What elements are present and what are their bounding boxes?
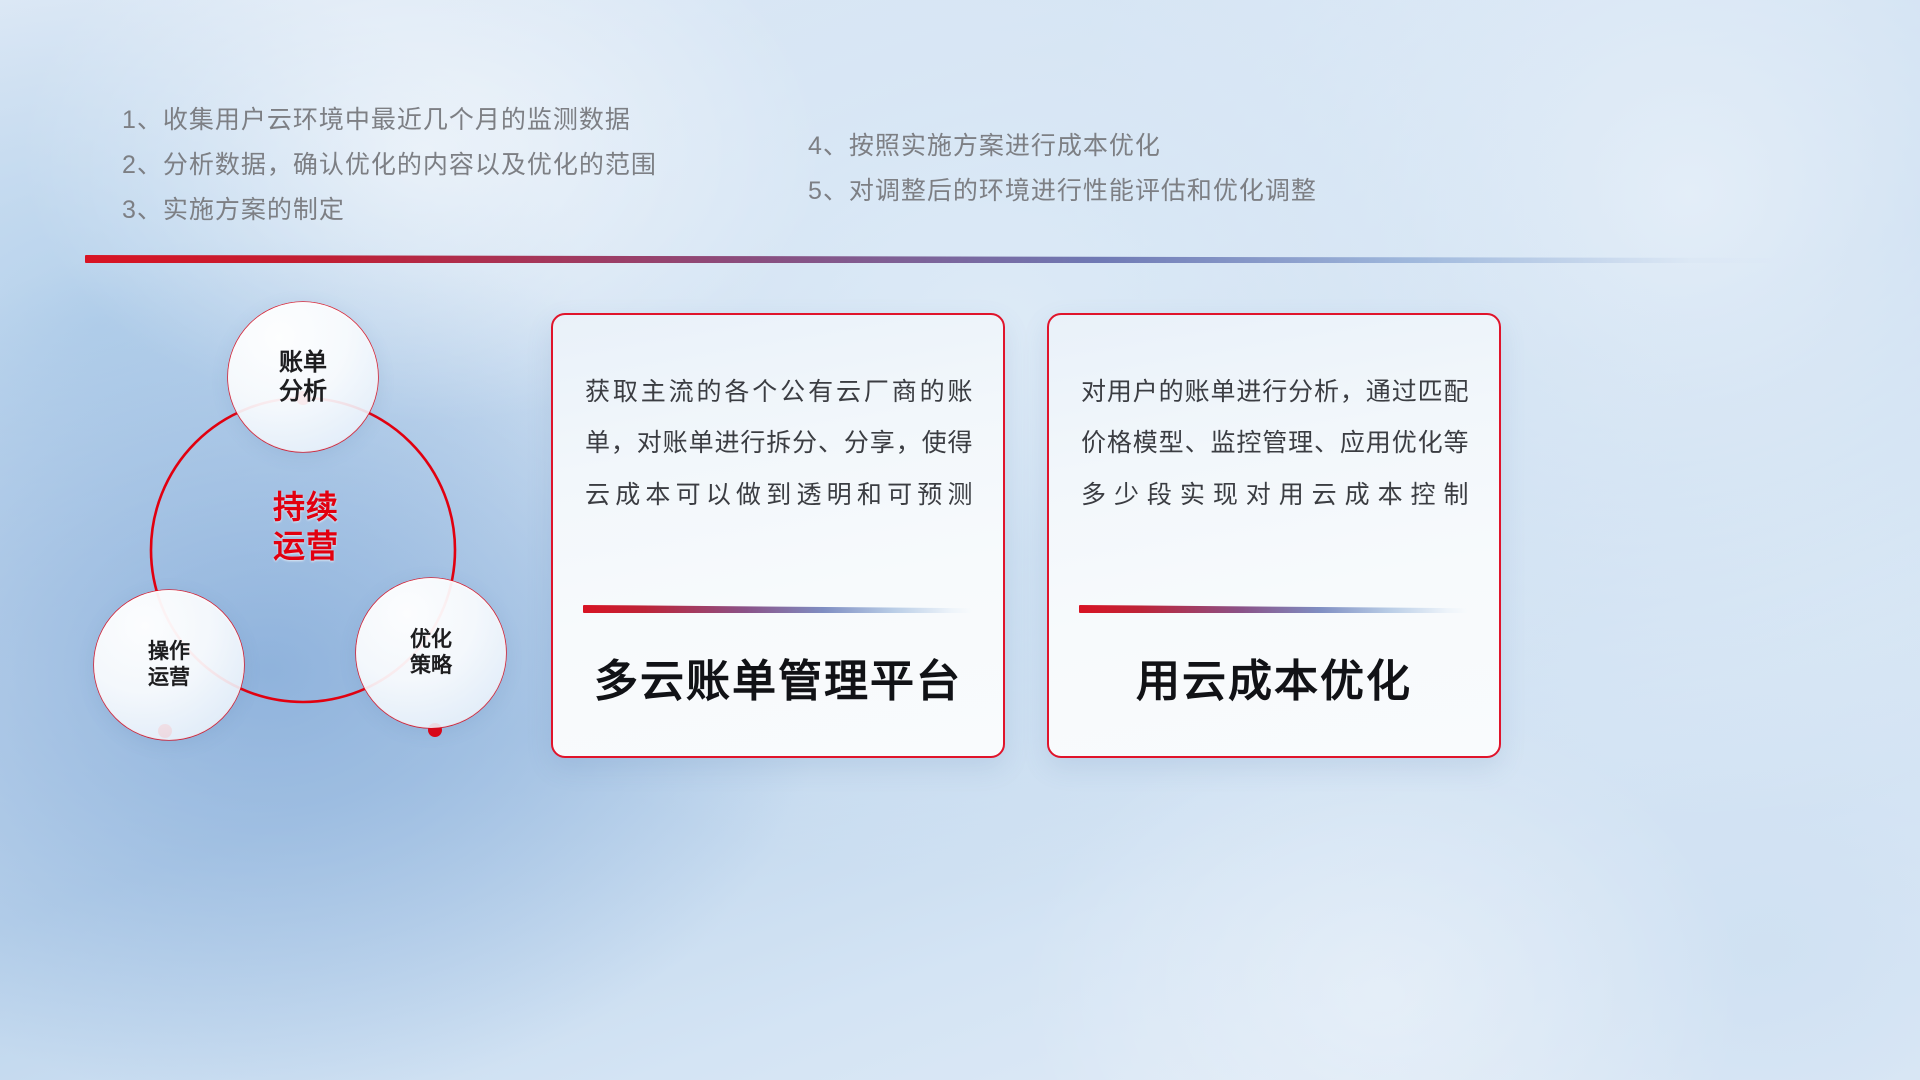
venn-diagram: 账单 分析 操作 运营 优化 策略 持续 运营: [86, 288, 556, 768]
venn-center-label-line1: 持续: [246, 488, 366, 527]
venn-bubble-label-line2: 运营: [148, 665, 190, 691]
bullet-item: 1、收集用户云环境中最近几个月的监测数据: [122, 98, 657, 143]
venn-center-label-line2: 运营: [246, 527, 366, 566]
card-title: 多云账单管理平台: [553, 645, 1003, 709]
bullet-column-right: 4、按照实施方案进行成本优化 5、对调整后的环境进行性能评估和优化调整: [808, 124, 1317, 214]
venn-bubble-label-line2: 策略: [410, 653, 452, 679]
venn-bubble-label-line1: 操作: [148, 639, 190, 665]
card-divider-rule: [583, 605, 971, 613]
bullet-column-left: 1、收集用户云环境中最近几个月的监测数据 2、分析数据，确认优化的内容以及优化的…: [122, 98, 657, 233]
venn-bubble-optimization-strategy[interactable]: 优化 策略: [356, 578, 506, 728]
card-divider-rule: [1079, 605, 1467, 613]
venn-bubble-billing-analysis[interactable]: 账单 分析: [228, 302, 378, 452]
card-cloud-cost-optimization[interactable]: 对用户的账单进行分析，通过匹配价格模型、监控管理、应用优化等多少段实现对用云成本…: [1047, 313, 1501, 758]
venn-bubble-operations[interactable]: 操作 运营: [94, 590, 244, 740]
bullet-item: 3、实施方案的制定: [122, 188, 657, 233]
card-body-text: 对用户的账单进行分析，通过匹配价格模型、监控管理、应用优化等多少段实现对用云成本…: [1081, 367, 1469, 521]
venn-bubble-label-line1: 账单: [279, 348, 327, 377]
bullet-item: 5、对调整后的环境进行性能评估和优化调整: [808, 169, 1317, 214]
bullet-lists: 1、收集用户云环境中最近几个月的监测数据 2、分析数据，确认优化的内容以及优化的…: [0, 0, 1920, 250]
venn-center-label: 持续 运营: [246, 488, 366, 566]
card-body-text: 获取主流的各个公有云厂商的账单，对账单进行拆分、分享，使得云成本可以做到透明和可…: [585, 367, 973, 521]
venn-bubble-label-line2: 分析: [279, 377, 327, 406]
bullet-item: 4、按照实施方案进行成本优化: [808, 124, 1317, 169]
venn-bubble-label-line1: 优化: [410, 627, 452, 653]
card-multicloud-billing-platform[interactable]: 获取主流的各个公有云厂商的账单，对账单进行拆分、分享，使得云成本可以做到透明和可…: [551, 313, 1005, 758]
bullet-item: 2、分析数据，确认优化的内容以及优化的范围: [122, 143, 657, 188]
card-title: 用云成本优化: [1049, 645, 1499, 709]
